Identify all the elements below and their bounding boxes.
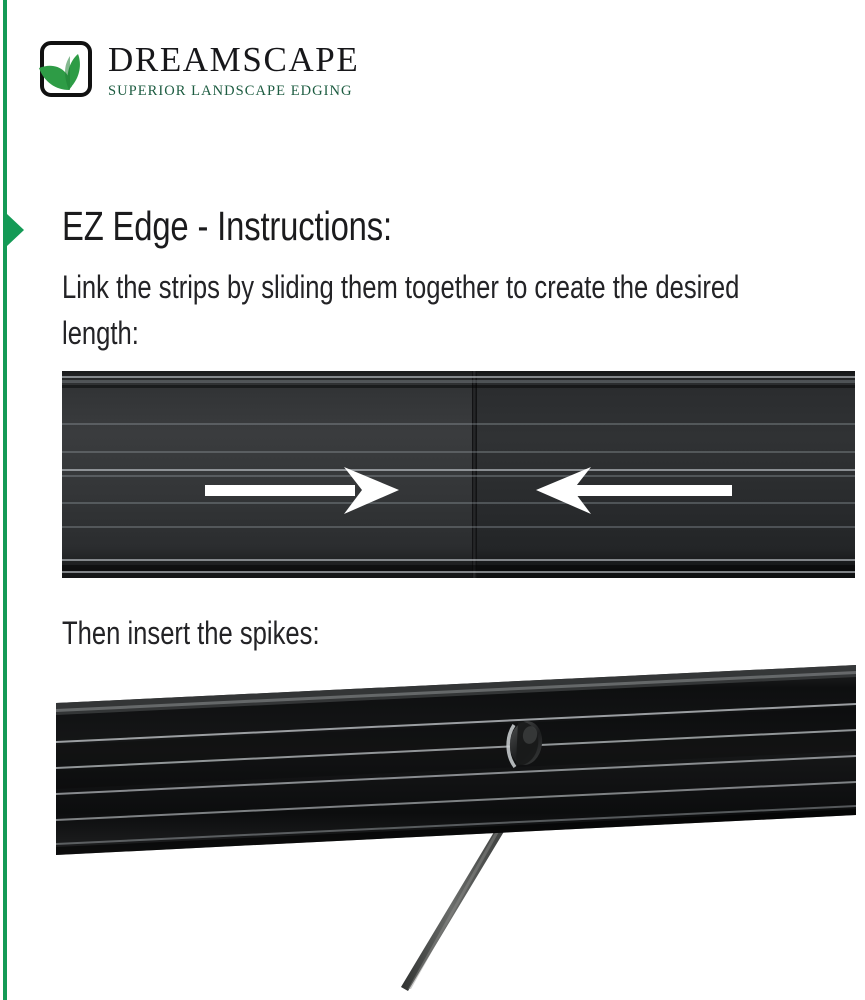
- instruction-sheet: DREAMSCAPE SUPERIOR LANDSCAPE EDGING EZ …: [0, 0, 865, 1000]
- brand-name: DREAMSCAPE: [108, 42, 438, 79]
- brand-tagline: SUPERIOR LANDSCAPE EDGING: [108, 83, 438, 100]
- triangle-right-icon: [7, 214, 24, 246]
- brand-header: DREAMSCAPE SUPERIOR LANDSCAPE EDGING: [30, 38, 450, 116]
- step-two-text: Then insert the spikes:: [62, 611, 320, 655]
- page-title: EZ Edge - Instructions:: [62, 203, 392, 250]
- strips-photo: [62, 371, 855, 578]
- leaf-in-square-logo: [30, 38, 96, 108]
- edging-strip: [56, 665, 856, 857]
- spike-photo: [56, 655, 856, 1000]
- brand-wordmark: DREAMSCAPE SUPERIOR LANDSCAPE EDGING: [108, 42, 438, 100]
- step-one-text: Link the strips by sliding them together…: [62, 264, 798, 356]
- left-accent-rail: [3, 0, 7, 1000]
